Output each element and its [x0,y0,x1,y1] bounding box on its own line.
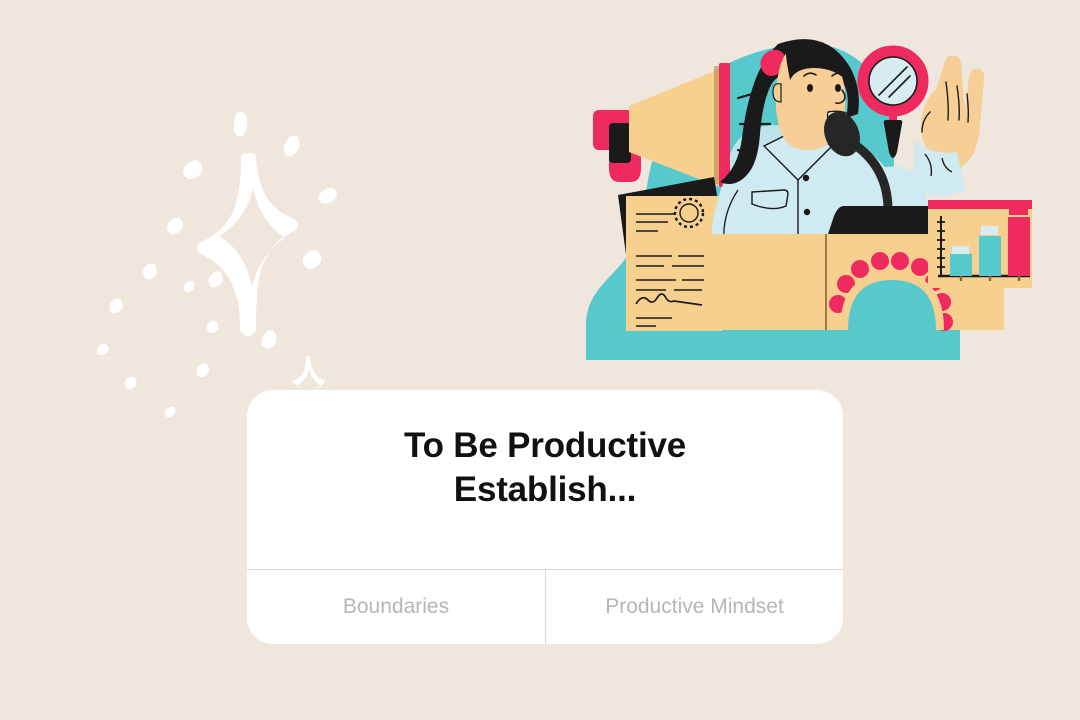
hero-illustration [580,28,1032,364]
poster-canvas: To Be Productive Establish... Boundaries… [0,0,1080,720]
four-point-sparkle-icon [197,153,298,336]
tab-productive-mindset[interactable]: Productive Mindset [545,570,843,644]
tab-boundaries[interactable]: Boundaries [247,570,545,644]
bar-2 [979,236,1001,276]
bar-1 [950,254,972,276]
sparkle-decoration [95,95,415,425]
page-title: To Be Productive Establish... [330,424,760,512]
card-tabs: Boundaries Productive Mindset [247,569,843,644]
card-body: To Be Productive Establish... [247,390,843,569]
bar-chart-board-icon [928,200,1032,288]
content-card[interactable]: To Be Productive Establish... Boundaries… [247,390,843,644]
confetti-flecks [97,112,337,417]
bar-3 [1008,217,1030,276]
